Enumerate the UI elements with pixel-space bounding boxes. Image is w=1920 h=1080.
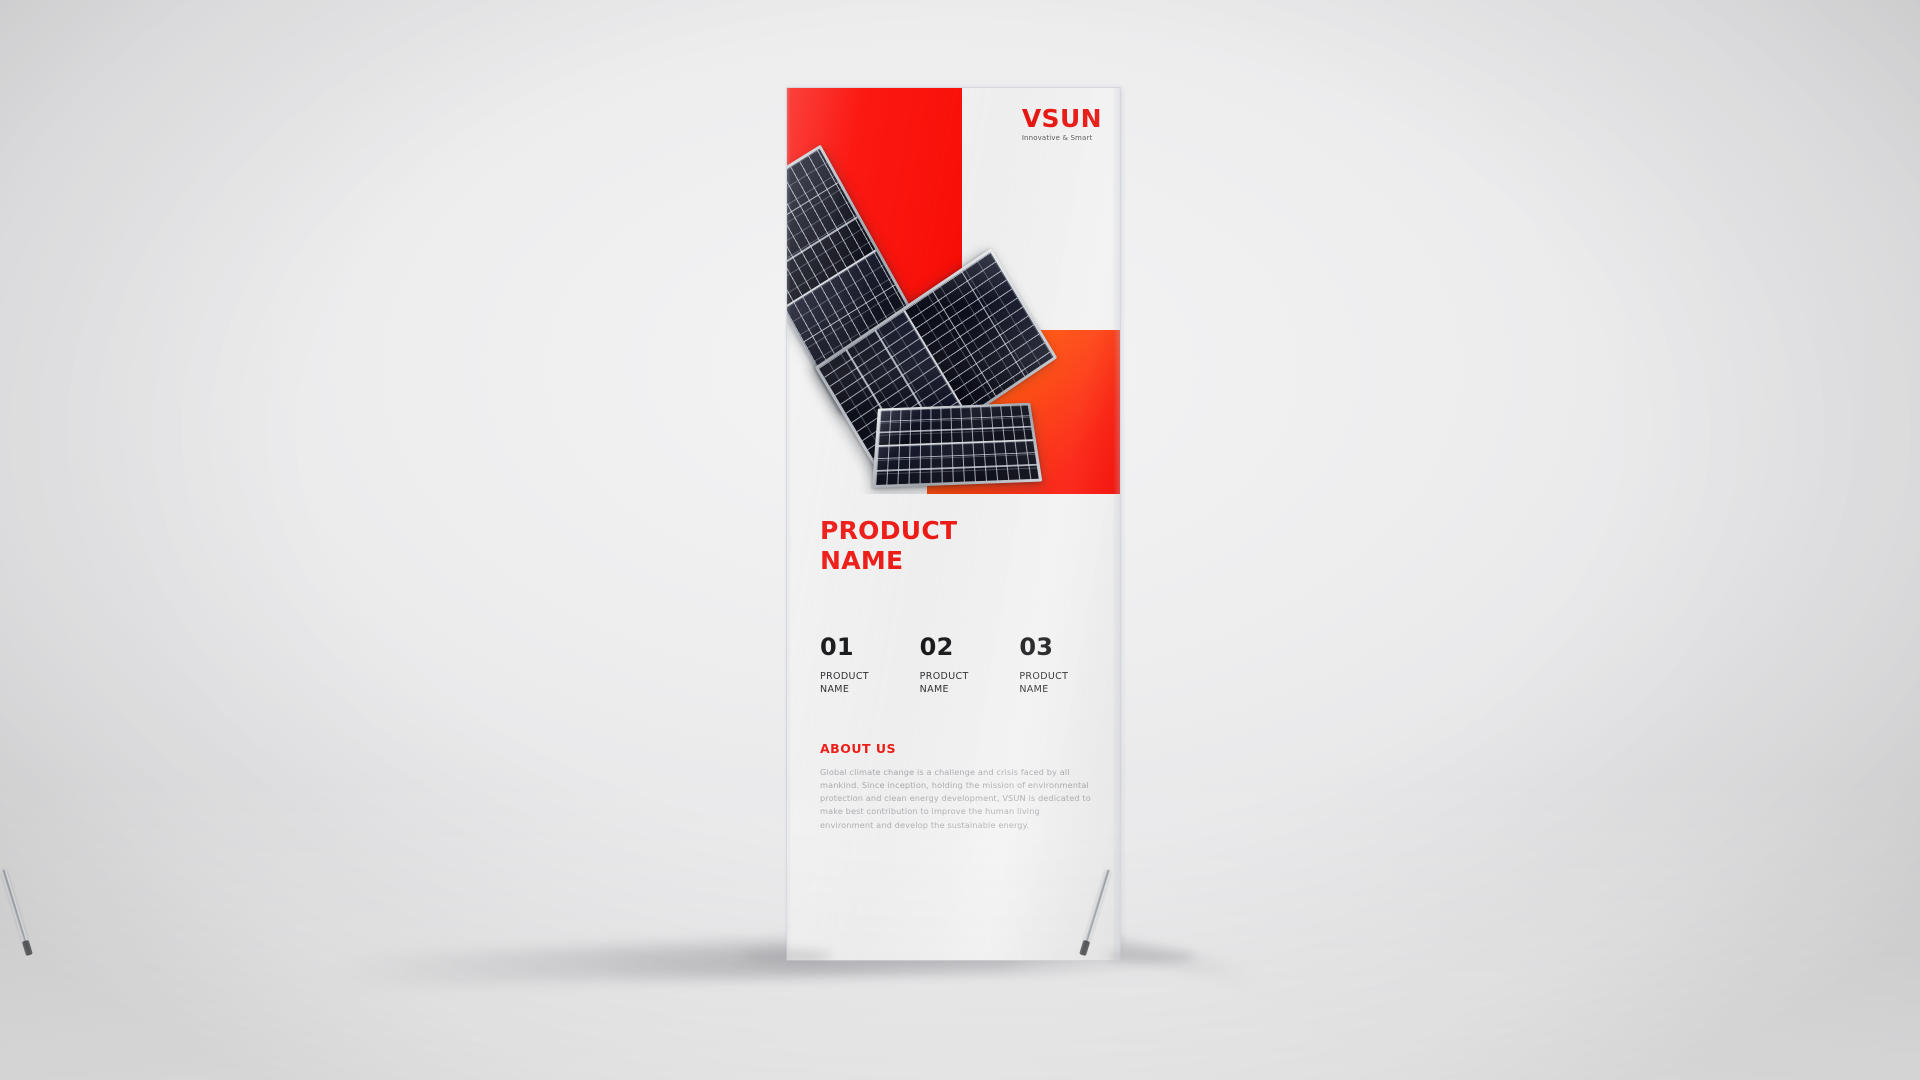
banner-left-edge <box>787 88 791 960</box>
studio-scene: VSUN Innovative & Smart PRODUCT NAME 01 … <box>0 0 1920 1080</box>
banner-right-edge <box>1113 88 1120 960</box>
scene-vignette <box>0 0 1920 1080</box>
